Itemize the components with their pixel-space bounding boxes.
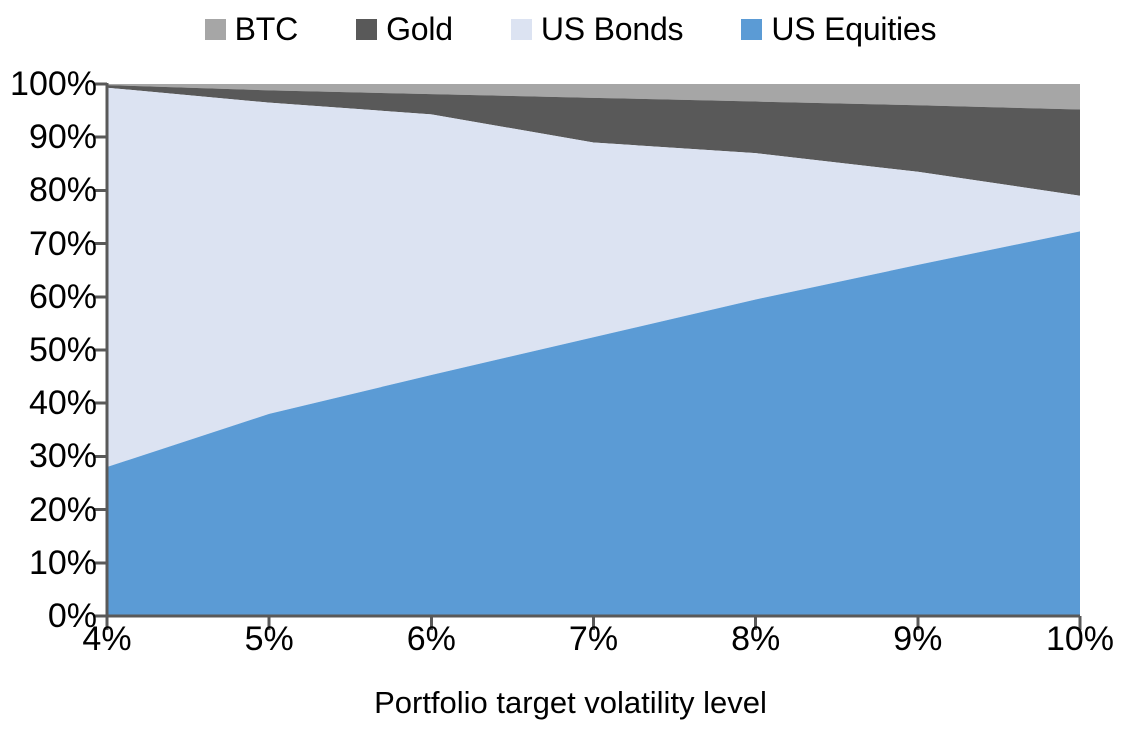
x-axis-tick-label: 4%: [37, 622, 177, 656]
x-axis-title: Portfolio target volatility level: [0, 686, 1141, 720]
x-axis-tick-label: 9%: [848, 622, 988, 656]
x-axis-tick-label: 6%: [361, 622, 501, 656]
x-axis-tick-labels: 4%5%6%7%8%9%10%: [0, 0, 1141, 742]
x-axis-tick-label: 7%: [524, 622, 664, 656]
x-axis-tick-label: 5%: [199, 622, 339, 656]
x-axis-tick-label: 8%: [686, 622, 826, 656]
x-axis-tick-label: 10%: [1010, 622, 1141, 656]
stacked-area-chart: BTC Gold US Bonds US Equities 100%90%80%…: [0, 0, 1141, 742]
